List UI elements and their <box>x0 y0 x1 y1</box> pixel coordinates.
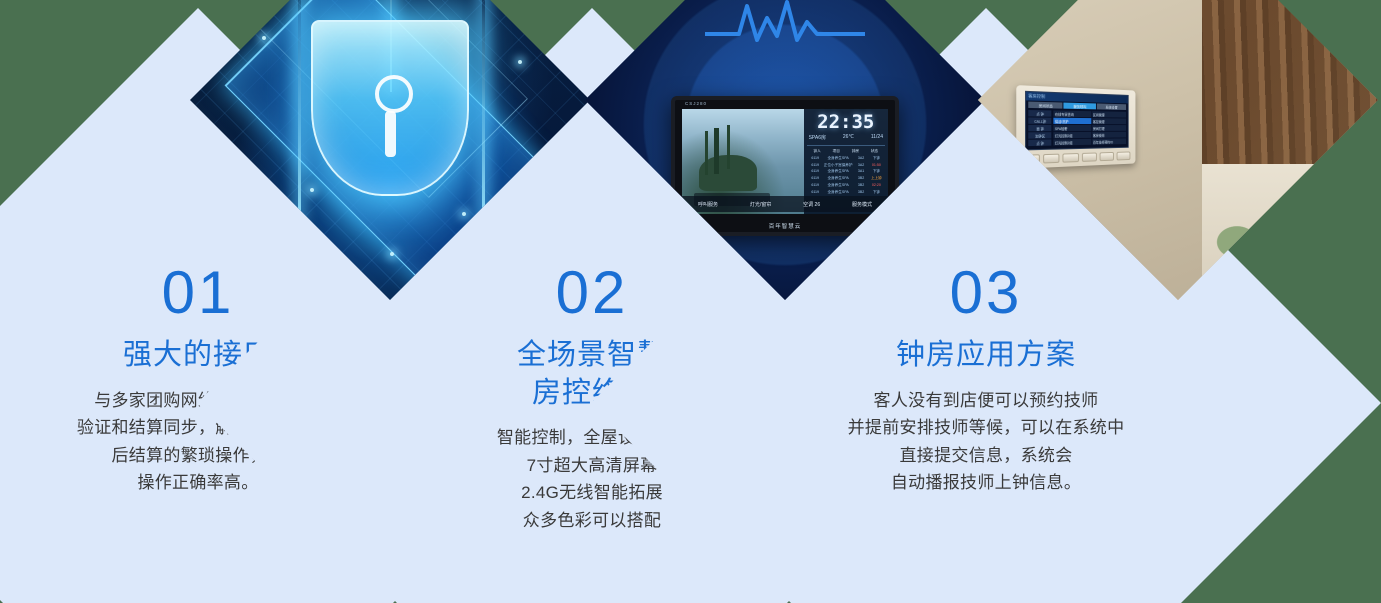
shield-lock-icon <box>311 20 469 196</box>
cell-item: 正位小子宫保养护 <box>823 162 854 169</box>
service-table-header: 钟人 项目 钟房 状态 <box>807 148 885 155</box>
cell-id: 6119 <box>808 162 823 169</box>
spark-dot <box>310 188 314 192</box>
spark-dot <box>390 252 394 256</box>
cell-id: 6119 <box>808 168 823 175</box>
service-table-row: 6119全身养生SPA3A2下钟 <box>807 155 885 162</box>
cell-room: 3B2 <box>853 182 868 189</box>
pulse-wave-icon <box>705 0 865 48</box>
service-table-row: 6119全身养生SPA3B2上上钟 <box>807 175 885 182</box>
tablet-button[interactable]: 呼叫服务 <box>698 201 718 208</box>
room-label: SPA6房 <box>809 134 826 141</box>
cell-status: 上上钟 <box>869 175 884 182</box>
light-beam-left <box>298 0 301 220</box>
cell-item: 全身养生SPA <box>823 182 854 189</box>
panel-tab[interactable]: 房间状态 <box>1028 102 1062 109</box>
clock-display: 22:35 <box>807 113 885 132</box>
wood-partition <box>1186 0 1378 185</box>
tablet-brand-logo: CSJ280 <box>685 101 707 106</box>
cell-item: 全身养生SPA <box>823 155 854 162</box>
th-person: 钟人 <box>808 148 827 155</box>
infographic-stage: 01 强大的接口 与多家团购网络合作，团购 验证和结算同步，解决了先验证 后结算… <box>0 0 1381 603</box>
card-title-03: 钟房应用方案 <box>771 337 1201 375</box>
hardware-key[interactable] <box>1063 153 1079 163</box>
panel-side-key[interactable]: 加钟区 <box>1028 132 1052 139</box>
service-table-row: 6119全身养生SPA3B202:20 <box>807 182 885 189</box>
hardware-key[interactable] <box>1081 152 1096 161</box>
th-item: 项目 <box>827 148 846 155</box>
panel-side-keys[interactable]: 点 钟CALL钟面 钟加钟区点 钟 <box>1028 110 1052 146</box>
cell-status: 下钟 <box>869 168 884 175</box>
tablet-button[interactable]: 灯光/窗帘 <box>750 201 771 208</box>
panel-tab[interactable]: 服务呼叫 <box>1064 103 1096 110</box>
cell-status: 02:20 <box>869 182 884 189</box>
panel-side-key[interactable]: 点 钟 <box>1028 110 1052 117</box>
th-room: 钟房 <box>846 148 865 155</box>
cell-id: 6119 <box>808 189 823 196</box>
card-content-03: 03 钟房应用方案 客人没有到店便可以预约技师 并提前安排技师等候，可以在系统中… <box>771 263 1201 497</box>
panel-grid-item[interactable]: 区间管理 <box>1092 111 1126 117</box>
service-table-row: 6119全身养生SPA3A1下钟 <box>807 168 885 175</box>
cell-item: 全身养生SPA <box>823 168 854 175</box>
panel-side-key[interactable]: CALL钟 <box>1028 117 1052 123</box>
spark-dot <box>518 60 522 64</box>
hardware-key[interactable] <box>1099 152 1114 161</box>
temperature-label: 26℃ <box>843 134 854 141</box>
card-number-03: 03 <box>771 263 1201 323</box>
service-table-row: 6119全身养生SPA3B2下钟 <box>807 189 885 196</box>
cell-status: 下钟 <box>869 155 884 162</box>
wall-panel-screen: 客房控制 房间状态服务呼叫系统设置 点 钟CALL钟面 钟加钟区点 钟 在线专家… <box>1025 91 1129 151</box>
cell-status: 下钟 <box>869 189 884 196</box>
service-table-row: 6119正位小子宫保养护3A201:50 <box>807 162 885 169</box>
cell-item: 全身养生SPA <box>823 175 854 182</box>
panel-grid-item[interactable]: 客房使用 <box>1092 132 1126 138</box>
panel-body: 点 钟CALL钟面 钟加钟区点 钟 在线专家咨询区间管理保洁/洗护客控管理SPA… <box>1026 109 1128 147</box>
service-table-body: 6119全身养生SPA3A2下钟6119正位小子宫保养护3A201:506119… <box>807 155 885 196</box>
clock-subline: SPA6房 26℃ 11/24 <box>807 134 885 141</box>
cell-room: 3A1 <box>853 168 868 175</box>
panel-side-key[interactable]: 点 钟 <box>1028 139 1052 146</box>
spark-dot <box>262 36 266 40</box>
panel-grid-items[interactable]: 在线专家咨询区间管理保洁/洗护客控管理SPA轻奢房间打理灯光控制2组客房使用灯光… <box>1054 111 1126 146</box>
cell-room: 3A2 <box>853 162 868 169</box>
panel-grid-item[interactable]: 在线专家咨询 <box>1054 111 1091 118</box>
hardware-key[interactable] <box>1043 154 1060 164</box>
light-beam-right <box>482 0 485 220</box>
cell-id: 6119 <box>808 182 823 189</box>
panel-grid-item[interactable]: 保洁/洗护 <box>1054 118 1091 124</box>
th-status: 状态 <box>865 148 884 155</box>
panel-grid-item[interactable]: 百年技师预约ID <box>1092 138 1126 144</box>
service-table: 钟人 项目 钟房 状态 6119全身养生SPA3A2下钟6119正位小子宫保养护… <box>807 145 885 196</box>
room-control-tablet[interactable]: CSJ280 22:35 SPA6房 26℃ 11/24 <box>671 96 899 236</box>
cell-room: 3A2 <box>853 155 868 162</box>
card-body-03: 客人没有到店便可以预约技师 并提前安排技师等候，可以在系统中 直接提交信息，系统… <box>771 387 1201 497</box>
panel-grid-item[interactable]: 房间打理 <box>1092 125 1126 131</box>
spark-dot <box>462 212 466 216</box>
tablet-button[interactable]: 服务模式 <box>852 201 872 208</box>
cell-id: 6119 <box>808 175 823 182</box>
date-label: 11/24 <box>871 134 883 141</box>
panel-tab[interactable]: 系统设置 <box>1097 103 1127 110</box>
panel-grid-item[interactable]: 客控管理 <box>1092 118 1126 124</box>
hardware-key[interactable] <box>1116 151 1130 160</box>
cell-item: 全身养生SPA <box>823 189 854 196</box>
tablet-bottom-buttons[interactable]: 呼叫服务灯光/窗帘空调 26服务模式 <box>682 196 888 212</box>
cell-id: 6119 <box>808 155 823 162</box>
tablet-button[interactable]: 空调 26 <box>803 201 820 208</box>
panel-grid-item[interactable]: 灯光控制2组 <box>1054 132 1091 138</box>
cell-room: 3B2 <box>853 175 868 182</box>
panel-grid-item[interactable]: 灯光控制2组 <box>1054 139 1091 146</box>
panel-grid-item[interactable]: SPA轻奢 <box>1054 125 1091 131</box>
cell-status: 01:50 <box>869 162 884 169</box>
panel-side-key[interactable]: 面 钟 <box>1028 125 1052 131</box>
cell-room: 3B2 <box>853 189 868 196</box>
